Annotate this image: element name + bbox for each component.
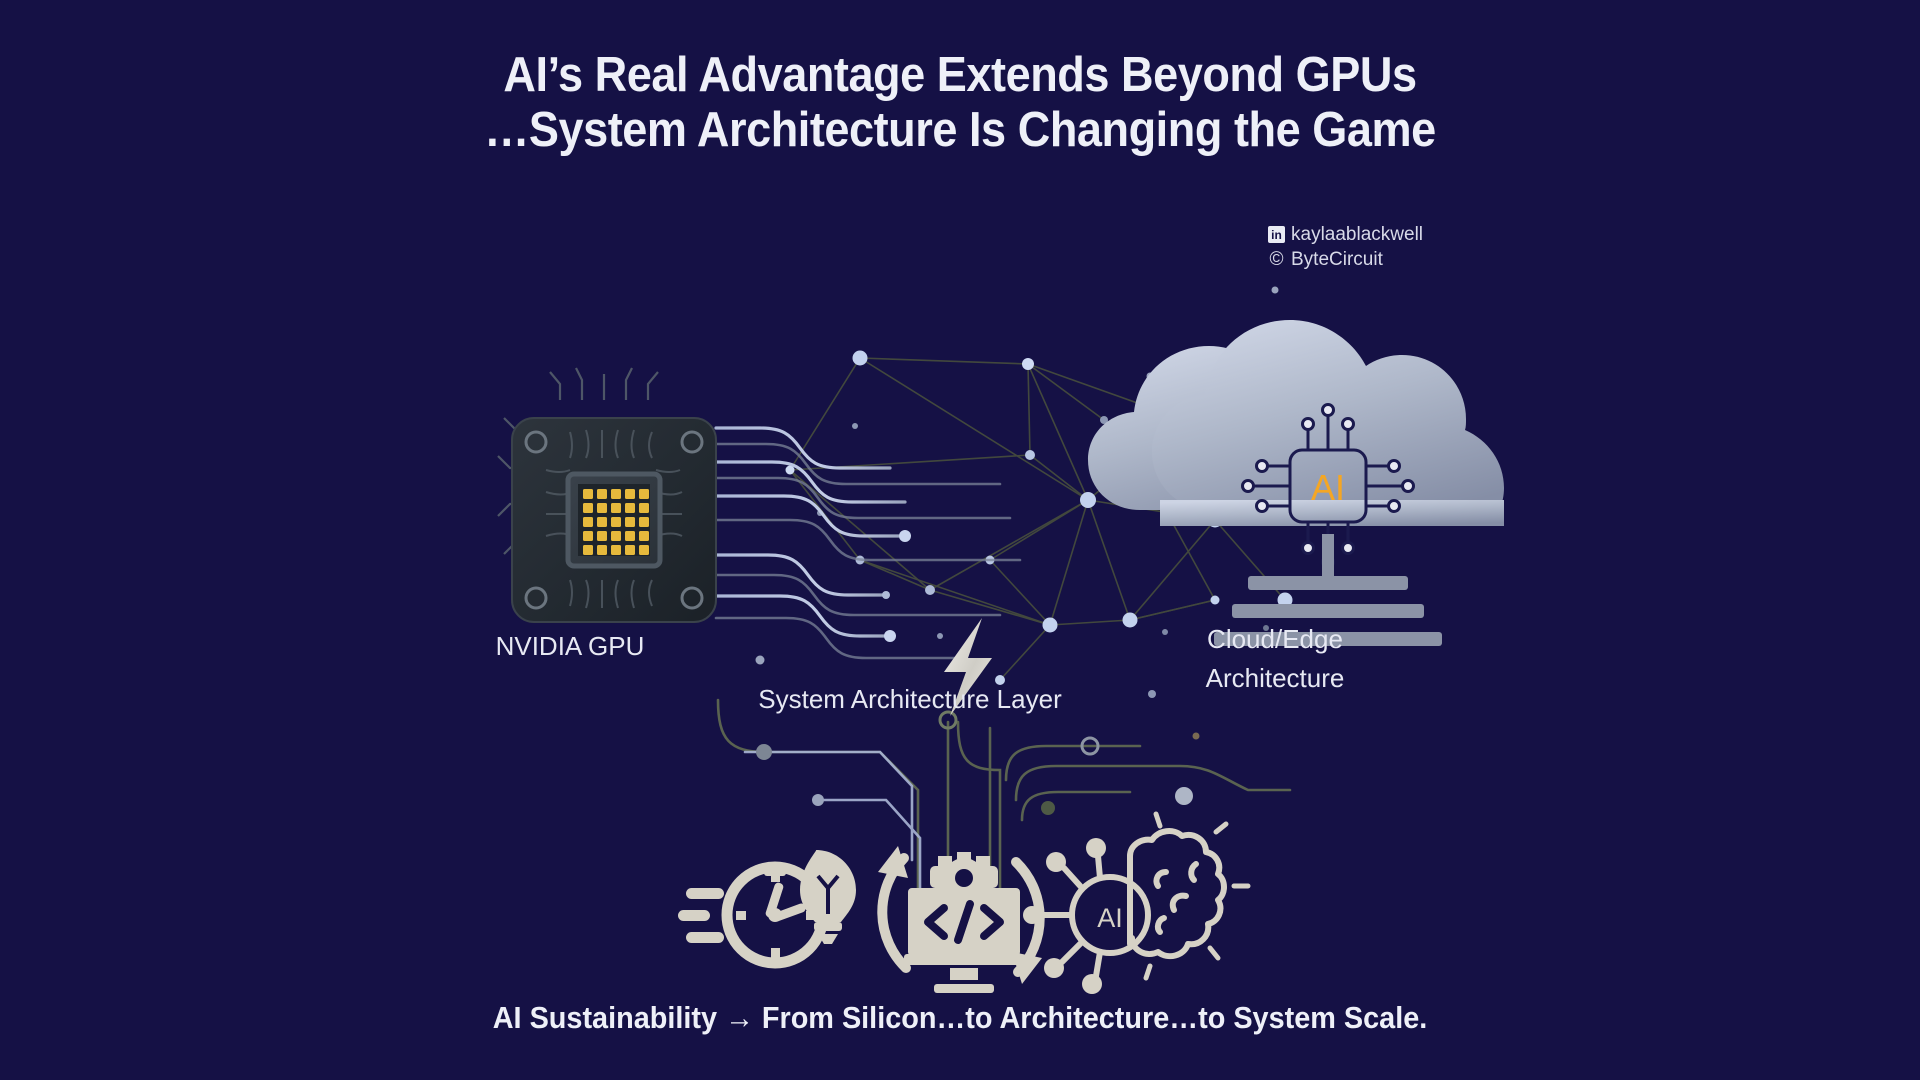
ai-brain-icon[interactable]: AI bbox=[1023, 814, 1248, 994]
bottom-caption: AI Sustainability → From Silicon…to Arch… bbox=[67, 1000, 1853, 1036]
cloud-label-line-1: Cloud/Edge bbox=[1110, 620, 1440, 659]
architecture-diagram: AI bbox=[0, 0, 1920, 1080]
architecture-layer-label: System Architecture Layer bbox=[620, 680, 1200, 719]
gpu-label: NVIDIA GPU bbox=[420, 627, 720, 666]
ai-brain-chip-label: AI bbox=[1097, 903, 1123, 933]
gpu-signal-traces bbox=[716, 428, 905, 636]
speed-innovation-icon[interactable] bbox=[678, 850, 856, 963]
gpu-signal-traces-dim bbox=[716, 444, 1020, 658]
gpu-chip[interactable] bbox=[498, 368, 716, 622]
cloud-ai-chip-label: AI bbox=[1311, 467, 1345, 508]
infographic-canvas: AI’s Real Advantage Extends Beyond GPUs … bbox=[0, 0, 1920, 1080]
lower-circuit-nodes bbox=[756, 712, 1193, 815]
devops-loop-icon[interactable] bbox=[878, 846, 1042, 993]
